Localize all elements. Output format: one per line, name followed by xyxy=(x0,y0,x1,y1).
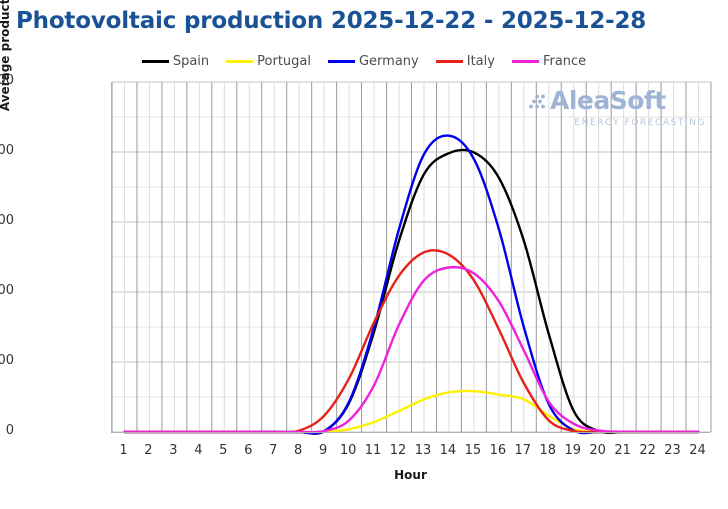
series-line-france xyxy=(124,267,698,432)
legend-label: Portugal xyxy=(257,55,311,68)
legend-swatch-icon xyxy=(142,60,169,63)
x-tick-label: 24 xyxy=(685,443,711,458)
x-tick-label: 5 xyxy=(210,443,236,458)
x-tick-label: 1 xyxy=(110,443,136,458)
x-tick-label: 13 xyxy=(410,443,436,458)
x-axis-label: Hour xyxy=(111,468,710,482)
legend-swatch-icon xyxy=(328,60,355,63)
x-tick-label: 8 xyxy=(285,443,311,458)
photovoltaic-production-chart: Photovoltaic production 2025-12-22 - 202… xyxy=(0,0,728,509)
x-tick-label: 3 xyxy=(160,443,186,458)
x-tick-label: 12 xyxy=(385,443,411,458)
legend-item-italy[interactable]: Italy xyxy=(436,55,495,68)
legend-label: Germany xyxy=(359,55,419,68)
x-tick-label: 15 xyxy=(460,443,486,458)
x-tick-label: 23 xyxy=(660,443,686,458)
y-tick-label: 12000 xyxy=(0,143,14,158)
x-tick-label: 11 xyxy=(360,443,386,458)
x-tick-label: 4 xyxy=(185,443,211,458)
chart-series-lines xyxy=(112,82,711,432)
y-tick-label: 0 xyxy=(6,423,14,438)
legend-item-spain[interactable]: Spain xyxy=(142,55,209,68)
plot-area xyxy=(111,82,711,432)
legend-swatch-icon xyxy=(226,60,253,63)
x-tick-label: 16 xyxy=(485,443,511,458)
x-tick-label: 22 xyxy=(635,443,661,458)
legend-swatch-icon xyxy=(436,60,463,63)
x-tick-label: 10 xyxy=(335,443,361,458)
legend-label: Spain xyxy=(173,55,209,68)
x-tick-label: 14 xyxy=(435,443,461,458)
x-tick-label: 21 xyxy=(610,443,636,458)
chart-legend: SpainPortugalGermanyItalyFrance xyxy=(0,55,728,68)
legend-item-portugal[interactable]: Portugal xyxy=(226,55,311,68)
x-tick-label: 19 xyxy=(560,443,586,458)
legend-item-germany[interactable]: Germany xyxy=(328,55,419,68)
x-tick-label: 20 xyxy=(585,443,611,458)
legend-label: Italy xyxy=(467,55,495,68)
chart-title: Photovoltaic production 2025-12-22 - 202… xyxy=(16,8,646,34)
y-tick-label: 15000 xyxy=(0,73,14,88)
x-tick-label: 18 xyxy=(535,443,561,458)
legend-label: France xyxy=(543,55,586,68)
legend-item-france[interactable]: France xyxy=(512,55,586,68)
x-tick-label: 17 xyxy=(510,443,536,458)
series-line-portugal xyxy=(124,391,698,432)
x-tick-label: 2 xyxy=(135,443,161,458)
x-tick-label: 9 xyxy=(310,443,336,458)
y-tick-label: 3000 xyxy=(0,353,14,368)
x-tick-label: 7 xyxy=(260,443,286,458)
series-line-spain xyxy=(124,150,698,434)
y-tick-label: 6000 xyxy=(0,283,14,298)
x-tick-label: 6 xyxy=(235,443,261,458)
legend-swatch-icon xyxy=(512,60,539,63)
series-line-germany xyxy=(124,136,698,434)
y-tick-label: 9000 xyxy=(0,213,14,228)
x-axis-line xyxy=(111,432,710,433)
